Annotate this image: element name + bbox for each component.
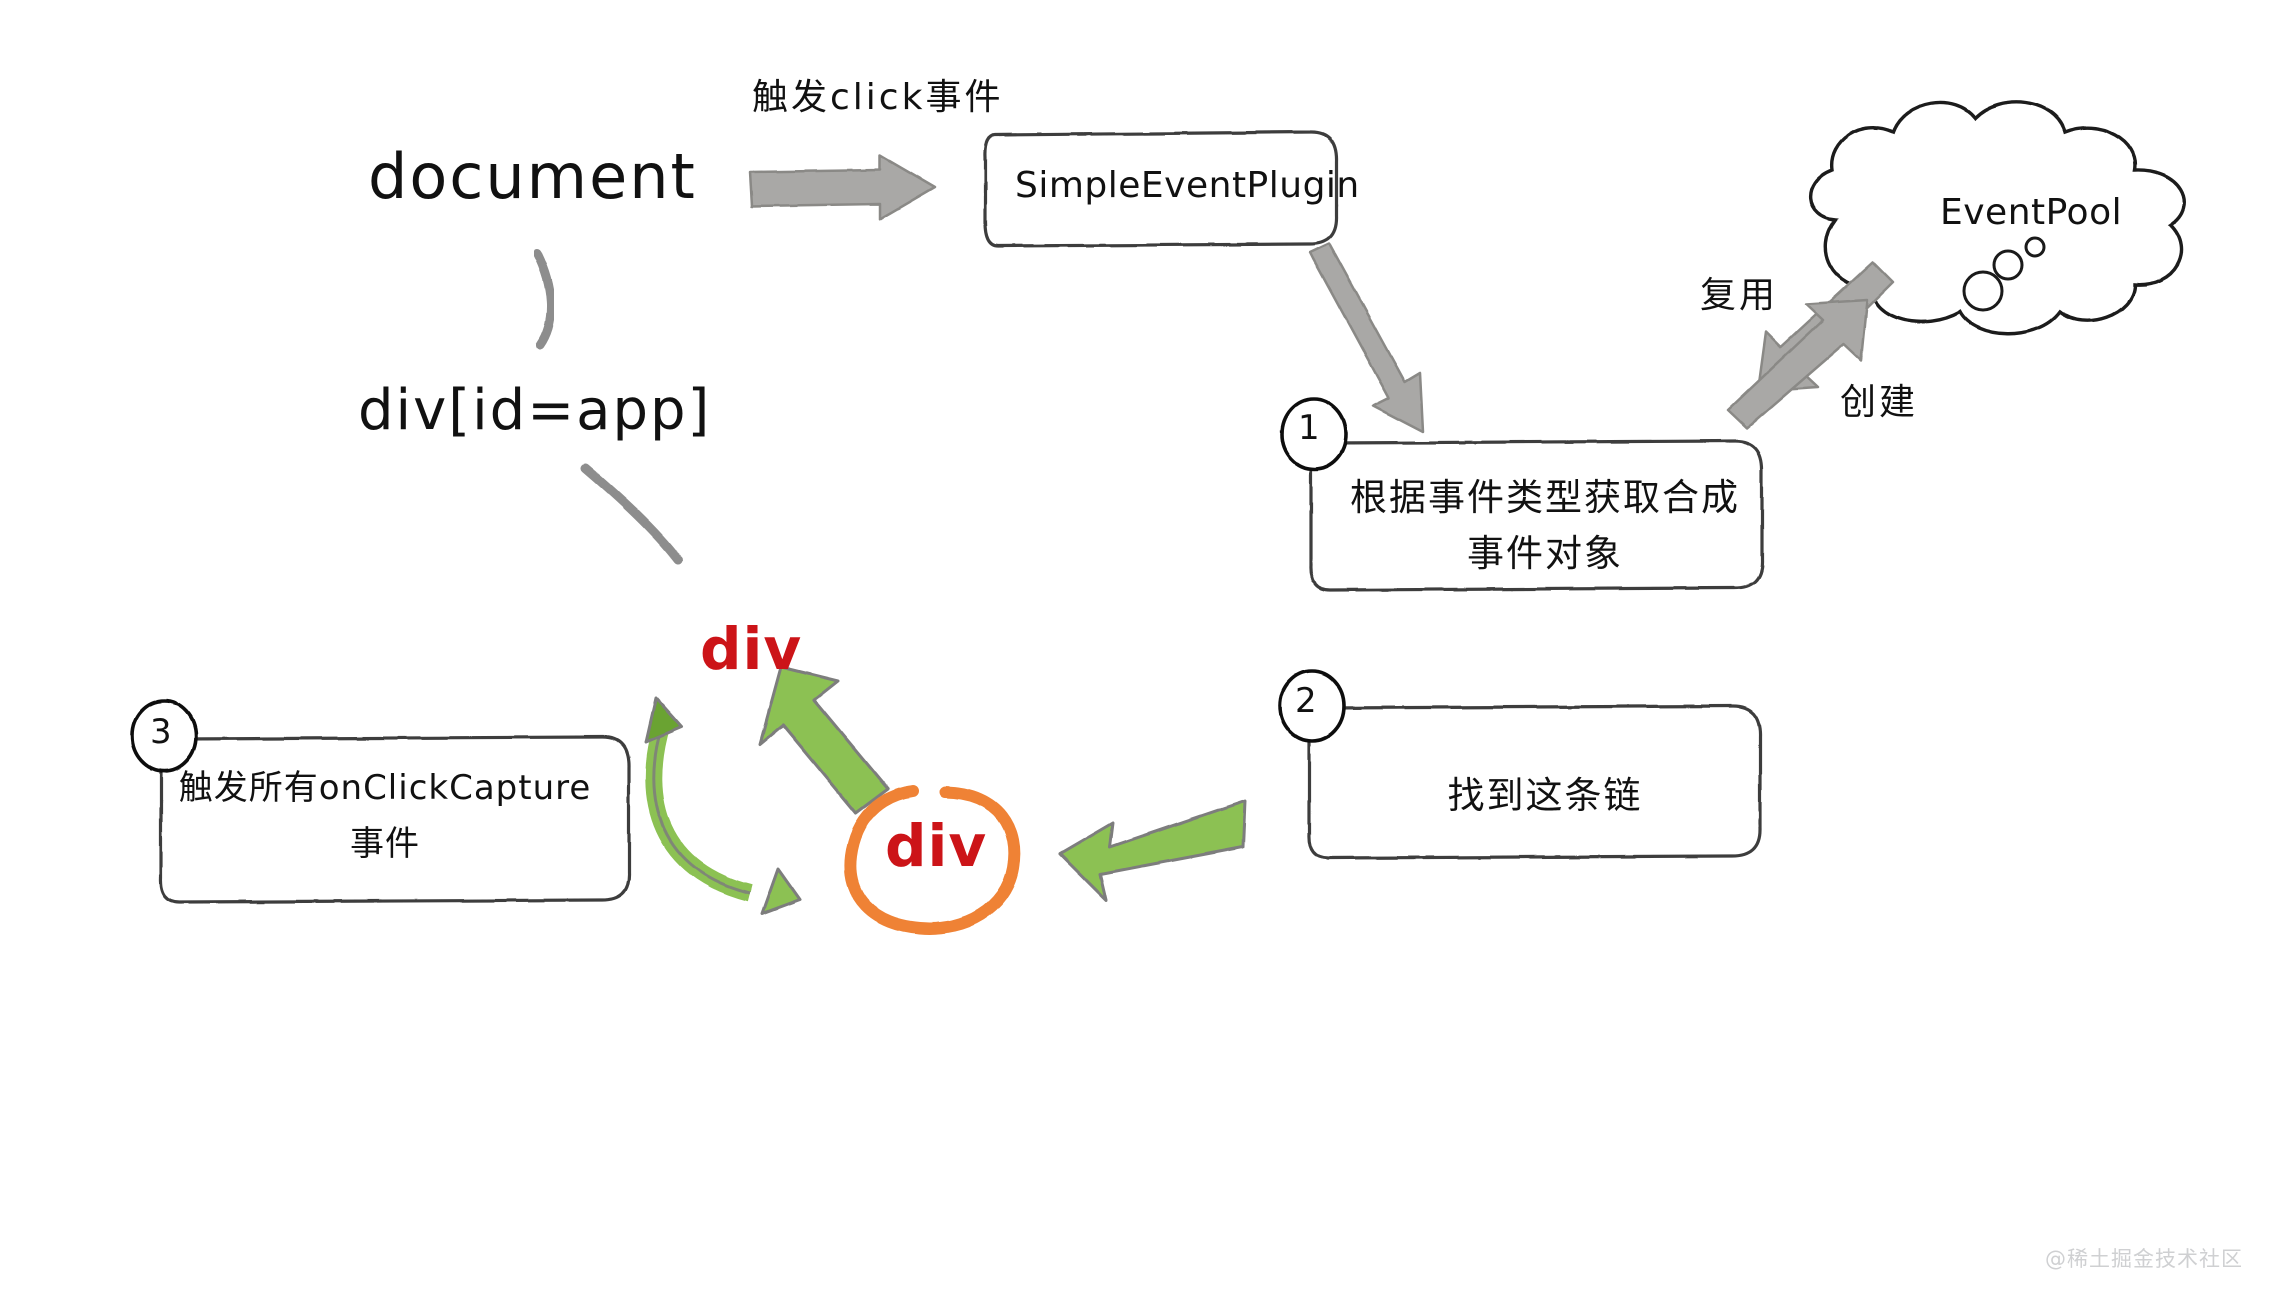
node-div-parent-label: div: [700, 615, 802, 683]
arrow-bubble-child-to-parent: [760, 658, 912, 828]
step-1-text: 根据事件类型获取合成事件对象: [1340, 470, 1750, 582]
thought-bubble-medium: [1994, 251, 2022, 279]
thought-bubble-small: [2026, 238, 2044, 256]
step-1-number: 1: [1298, 408, 1320, 448]
watermark: @稀土掘金技术社区: [2045, 1243, 2243, 1273]
arrow-step2-to-child-div: [1060, 801, 1245, 900]
arrow-document-to-plugin: [750, 155, 935, 219]
arrow-reuse: [1758, 236, 1893, 391]
step-2-number: 2: [1295, 681, 1317, 721]
edge-label-reuse: 复用: [1700, 266, 1778, 318]
arrow-capture-loop: [646, 698, 800, 914]
step-3-text: 触发所有onClickCapture事件: [175, 760, 595, 872]
step-2-text: 找到这条链: [1340, 765, 1750, 819]
thought-bubble-large: [1964, 272, 2002, 310]
edge-label-create: 创建: [1840, 373, 1918, 425]
node-div-child-label: div: [885, 812, 987, 880]
diagram-canvas: document div[id=app] 触发click事件 SimpleEve…: [0, 0, 2290, 1301]
arrow-plugin-to-step1: [1310, 243, 1423, 432]
node-event-pool-label: EventPool: [1940, 192, 2122, 233]
edge-label-trigger-click: 触发click事件: [752, 68, 1003, 120]
node-document-label: document: [368, 140, 697, 213]
step-3-number: 3: [150, 712, 172, 752]
connector-divapp-to-div: [585, 468, 678, 560]
node-div-app-label: div[id=app]: [358, 378, 711, 443]
node-simple-event-plugin-label: SimpleEventPlugin: [1015, 165, 1360, 206]
connector-document-to-divapp: [537, 253, 551, 345]
